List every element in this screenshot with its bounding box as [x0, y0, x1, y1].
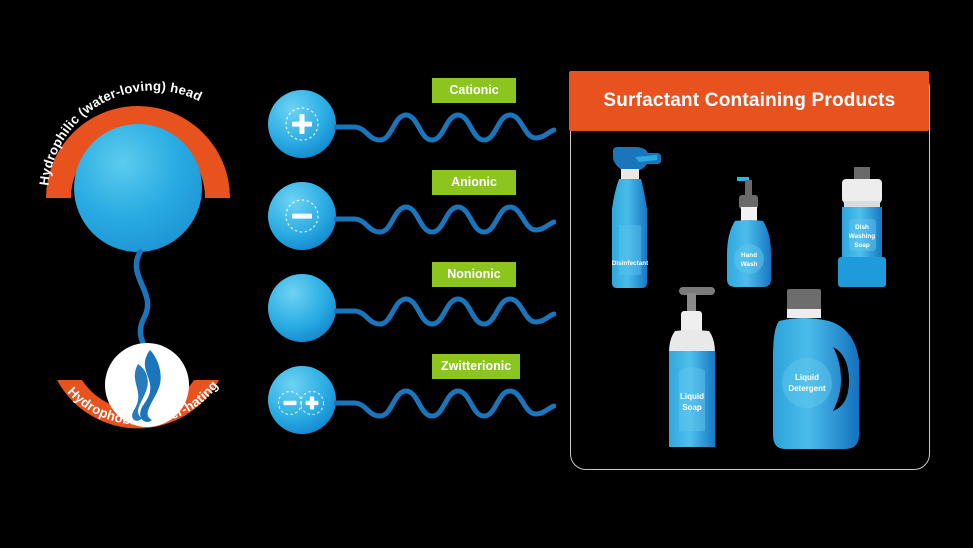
products-panel-title: Surfactant Containing Products	[569, 71, 929, 131]
products-panel: Surfactant Containing Products Disinfect…	[570, 72, 930, 470]
surfactant-types-list: Cationic Anionic	[258, 80, 558, 470]
caption-liquid-detergent-line2: Detergent	[788, 384, 826, 393]
surfactant-molecule-diagram: Hydrophilic (water-loving) head Hydropho…	[0, 0, 275, 548]
caption-disinfectant: Disinfectant	[612, 260, 649, 267]
caption-hand-wash-line2: Wash	[741, 261, 758, 268]
anionic-tail-wave	[334, 198, 556, 240]
zwitterionic-head-icon	[266, 364, 338, 436]
caption-liquid-soap-line2: Soap	[682, 403, 702, 412]
product-dish-washing-soap[interactable]: Dish Washing Soap	[825, 165, 901, 295]
water-repellent-icon	[105, 343, 189, 427]
product-hand-wash[interactable]: Hand Wash	[715, 171, 789, 293]
type-row-zwitterionic[interactable]: Zwitterionic	[258, 356, 558, 444]
nonionic-tail-wave	[334, 290, 556, 332]
product-liquid-detergent[interactable]: Liquid Detergent	[763, 285, 875, 457]
cationic-tail-wave	[334, 106, 556, 148]
caption-dish-line1: Dish	[855, 224, 869, 231]
product-disinfectant[interactable]: Disinfectant	[595, 143, 683, 293]
product-liquid-soap[interactable]: Liquid Soap	[655, 281, 735, 457]
caption-hand-wash-line1: Hand	[741, 252, 757, 259]
anionic-head-icon	[266, 180, 338, 252]
badge-cationic[interactable]: Cationic	[432, 78, 516, 103]
hydrophilic-head-sphere	[74, 124, 202, 252]
type-row-cationic[interactable]: Cationic	[258, 80, 558, 168]
type-row-anionic[interactable]: Anionic	[258, 172, 558, 260]
cationic-head-icon	[266, 88, 338, 160]
badge-nonionic[interactable]: Nonionic	[432, 262, 516, 287]
badge-zwitterionic[interactable]: Zwitterionic	[432, 354, 520, 379]
nonionic-head-icon	[266, 272, 338, 344]
badge-anionic[interactable]: Anionic	[432, 170, 516, 195]
zwitterionic-tail-wave	[334, 382, 556, 424]
caption-dish-line2: Washing	[849, 233, 875, 240]
type-row-nonionic[interactable]: Nonionic	[258, 264, 558, 352]
caption-liquid-soap-line1: Liquid	[680, 392, 704, 401]
infographic-canvas: Hydrophilic (water-loving) head Hydropho…	[0, 0, 973, 548]
caption-dish-line3: Soap	[854, 242, 870, 249]
caption-liquid-detergent-line1: Liquid	[795, 373, 819, 382]
